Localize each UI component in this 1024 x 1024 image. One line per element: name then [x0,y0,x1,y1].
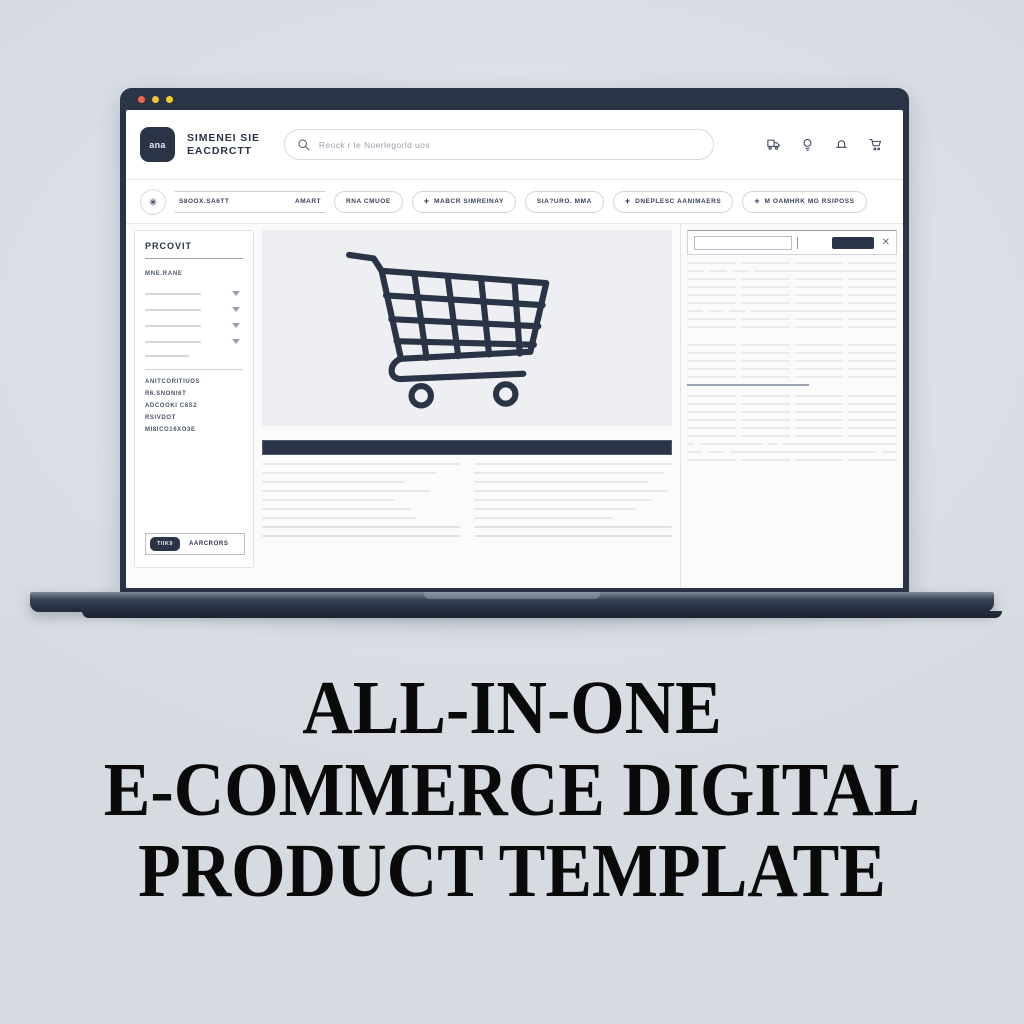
laptop-base [30,592,994,612]
truck-icon[interactable] [766,137,781,152]
table-row [687,270,897,272]
table-row [687,352,897,354]
table-row [687,403,897,405]
description-title-bar [262,440,672,455]
table-row [687,435,897,437]
details-primary-button[interactable] [832,237,874,249]
sidebar-link[interactable]: R6.SNONI6T [145,391,243,397]
table-row [687,443,897,445]
filter-label-placeholder [145,341,201,343]
table-row [687,419,897,421]
table-row [687,286,897,288]
details-panel: ✕ [681,224,903,588]
filter-chip-label: M OAMHRK MG RSIPOSS [765,198,855,205]
chevron-down-icon [232,339,240,344]
table-row [687,278,897,280]
filter-chip-3[interactable]: + DNEPLESC AANIMAERS [613,191,734,213]
filter-chip-label: RNA CMUOE [346,198,391,205]
sidebar-cta-button[interactable]: TIIK9 [150,537,180,551]
app-body: PRCOVIT MNE.RANE [126,224,903,588]
headline-line-2: E-COMMERCE DIGITAL [41,754,983,828]
category-select-field[interactable]: S8OOX.SA6TT AMART [175,191,325,213]
filter-chip-label: MABCR SIMREINAY [434,198,504,205]
close-icon[interactable]: ✕ [882,238,890,248]
table-row [687,411,897,413]
table-row [687,310,897,312]
category-select-left-label: S8OOX.SA6TT [179,198,229,205]
sidebar-link[interactable]: RSIVDOT [145,415,243,421]
brand-line-2: EACDRCTT [187,145,260,158]
filter-label-placeholder [145,355,189,357]
browser-titlebar [120,88,909,110]
details-toolbar: ✕ [687,230,897,255]
brand-name: SIMENEI SIE EACDRCTT [187,132,260,158]
header-icon-group [766,137,889,152]
table-row [687,262,897,264]
table-row [687,318,897,320]
browser-viewport: ana SIMENEI SIE EACDRCTT Reock r le Noer… [126,110,903,588]
sidebar-cta-box: TIIK9 AARCRORS [145,533,245,555]
sidebar-cta-label: AARCRORS [189,541,228,547]
search-input[interactable]: Reock r le Noerlegorld uos [284,129,714,160]
sidebar-filter-row[interactable] [145,355,243,357]
chevron-down-icon [232,291,240,296]
filter-chip-label: DNEPLESC AANIMAERS [635,198,721,205]
plus-icon: + [625,197,630,206]
bell-icon[interactable] [834,137,849,152]
search-icon [297,138,310,151]
sidebar-filter-row[interactable] [145,291,243,296]
table-row [687,326,897,328]
sidebar-link[interactable]: ANITCORITIUOS [145,379,243,385]
table-row [687,451,897,453]
table-row [687,459,897,461]
filter-chip-2[interactable]: SIA?URO. MMA [525,191,604,213]
logo-mark-text: ana [149,140,165,150]
headline-line-3: PRODUCT TEMPLATE [41,835,983,909]
base-foot [82,611,1002,618]
trackpad-notch [424,592,600,599]
description-column [262,463,460,544]
table-row [687,294,897,296]
table-row [687,395,897,397]
sidebar-filter-row[interactable] [145,339,243,344]
sidebar-title: PRCOVIT [145,241,243,251]
product-main-column [254,224,681,588]
filter-chip-label: SIA?URO. MMA [537,198,592,205]
headline-line-1: ALL-IN-ONE [41,672,983,746]
poster-headline: ALL-IN-ONE E-COMMERCE DIGITAL PRODUCT TE… [0,672,1024,909]
sidebar-link[interactable]: MI8ICO16XO3E [145,427,243,433]
sidebar-divider [145,369,243,370]
sidebar-filter-row[interactable] [145,323,243,328]
details-row-group-1 [687,262,897,328]
app-header: ana SIMENEI SIE EACDRCTT Reock r le Noer… [126,110,903,180]
cart-icon[interactable] [868,137,883,152]
maximize-dot[interactable] [166,96,173,103]
laptop-lid: ana SIMENEI SIE EACDRCTT Reock r le Noer… [120,88,909,594]
description-column [474,463,672,544]
filter-chip-1[interactable]: + MABCR SIMREINAY [412,191,516,213]
filter-chip-4[interactable]: + M OAMHRK MG RSIPOSS [742,191,866,213]
poster-canvas: ana SIMENEI SIE EACDRCTT Reock r le Noer… [0,0,1024,1024]
details-row-group-2 [687,344,897,378]
filters-sidebar: PRCOVIT MNE.RANE [134,230,254,568]
details-row-group-3 [687,395,897,461]
lightbulb-icon[interactable] [800,137,815,152]
table-row [687,302,897,304]
table-row [687,376,897,378]
table-row [687,360,897,362]
chevron-down-icon [232,307,240,312]
sparkle-filter-button[interactable] [140,189,166,215]
table-row [687,368,897,370]
close-dot[interactable] [138,96,145,103]
table-row [687,344,897,346]
sidebar-link[interactable]: ADCOOKI C8S2 [145,403,243,409]
filter-label-placeholder [145,293,201,295]
progress-indicator [687,384,809,386]
product-hero-image [262,230,672,426]
sparkle-icon [148,197,158,207]
description-columns [262,463,672,544]
filter-chip-0[interactable]: RNA CMUOE [334,191,403,213]
text-cursor [797,237,798,249]
table-row [687,427,897,429]
filter-label-placeholder [145,309,201,311]
sidebar-filter-row[interactable] [145,307,243,312]
plus-icon: + [754,197,759,206]
logo-badge[interactable]: ana [140,127,175,162]
plus-icon: + [424,197,429,206]
minimize-dot[interactable] [152,96,159,103]
category-select-right-label: AMART [295,198,321,205]
brand-line-1: SIMENEI SIE [187,132,260,145]
search-placeholder: Reock r le Noerlegorld uos [319,140,430,150]
filter-label-placeholder [145,325,201,327]
sidebar-subtitle: MNE.RANE [145,271,243,277]
shopping-cart-icon [335,244,599,412]
filter-bar: S8OOX.SA6TT AMART RNA CMUOE + MABCR SIMR… [126,180,903,224]
chevron-down-icon [232,323,240,328]
sidebar-rule [145,258,243,259]
details-text-input[interactable] [694,236,792,250]
